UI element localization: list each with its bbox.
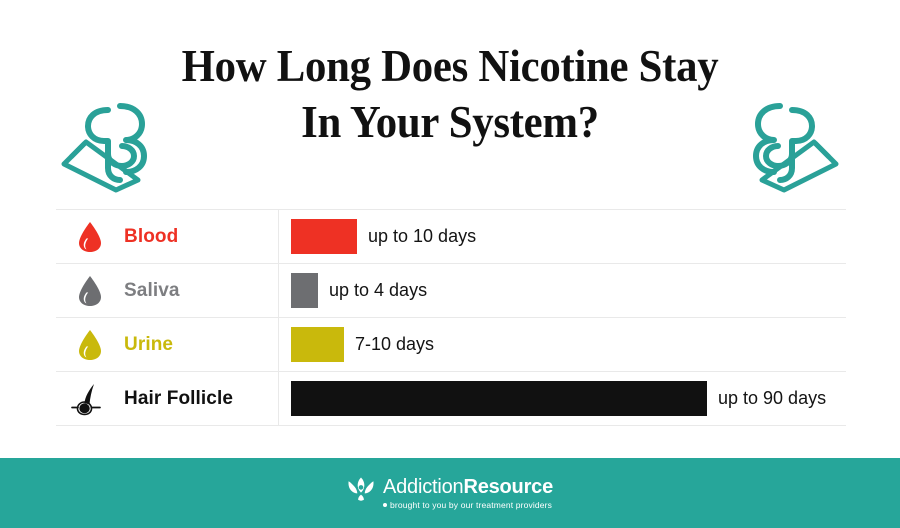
duration-text: up to 90 days [718,388,826,409]
brand-name: AddictionResource [383,477,553,498]
table-row: Blood up to 10 days [56,210,846,264]
footer-bar: AddictionResource brought to you by our … [0,458,900,528]
nicotine-detection-table: Blood up to 10 days Saliva up to 4 days [56,209,846,426]
saliva-drop-icon [56,275,124,307]
row-label-cell: Urine [56,318,279,371]
row-label-cell: Hair Follicle [56,372,279,425]
duration-bar [291,381,707,416]
row-bar-cell: up to 10 days [279,210,846,263]
row-label: Hair Follicle [124,388,233,410]
duration-text: up to 10 days [368,226,476,247]
duration-text: up to 4 days [329,280,427,301]
table-row: Hair Follicle up to 90 days [56,372,846,426]
cigarette-smoke-icon [56,96,164,201]
row-label: Blood [124,226,178,248]
row-label-cell: Saliva [56,264,279,317]
hair-follicle-icon [56,381,124,417]
cigarette-smoke-icon [736,96,844,201]
brand-tagline: brought to you by our treatment provider… [383,500,553,510]
row-label: Saliva [124,280,180,302]
brand-name-second: Resource [463,476,553,498]
brand-text-block: AddictionResource brought to you by our … [383,477,553,510]
row-bar-cell: up to 90 days [279,372,846,425]
duration-bar [291,219,357,254]
lotus-flower-logo-icon [347,476,375,507]
bullet-dot-icon [383,503,387,507]
row-label: Urine [124,334,173,356]
blood-drop-icon [56,221,124,253]
duration-bar [291,273,318,308]
page-title-line-1: How Long Does Nicotine Stay [32,38,869,94]
row-label-cell: Blood [56,210,279,263]
brand-name-first: Addiction [383,476,463,498]
table-row: Saliva up to 4 days [56,264,846,318]
brand-tagline-text: brought to you by our treatment provider… [390,500,552,510]
row-bar-cell: up to 4 days [279,264,846,317]
brand-logo[interactable]: AddictionResource brought to you by our … [347,476,553,510]
urine-drop-icon [56,329,124,361]
duration-bar [291,327,344,362]
table-row: Urine 7-10 days [56,318,846,372]
row-bar-cell: 7-10 days [279,318,846,371]
duration-text: 7-10 days [355,334,434,355]
